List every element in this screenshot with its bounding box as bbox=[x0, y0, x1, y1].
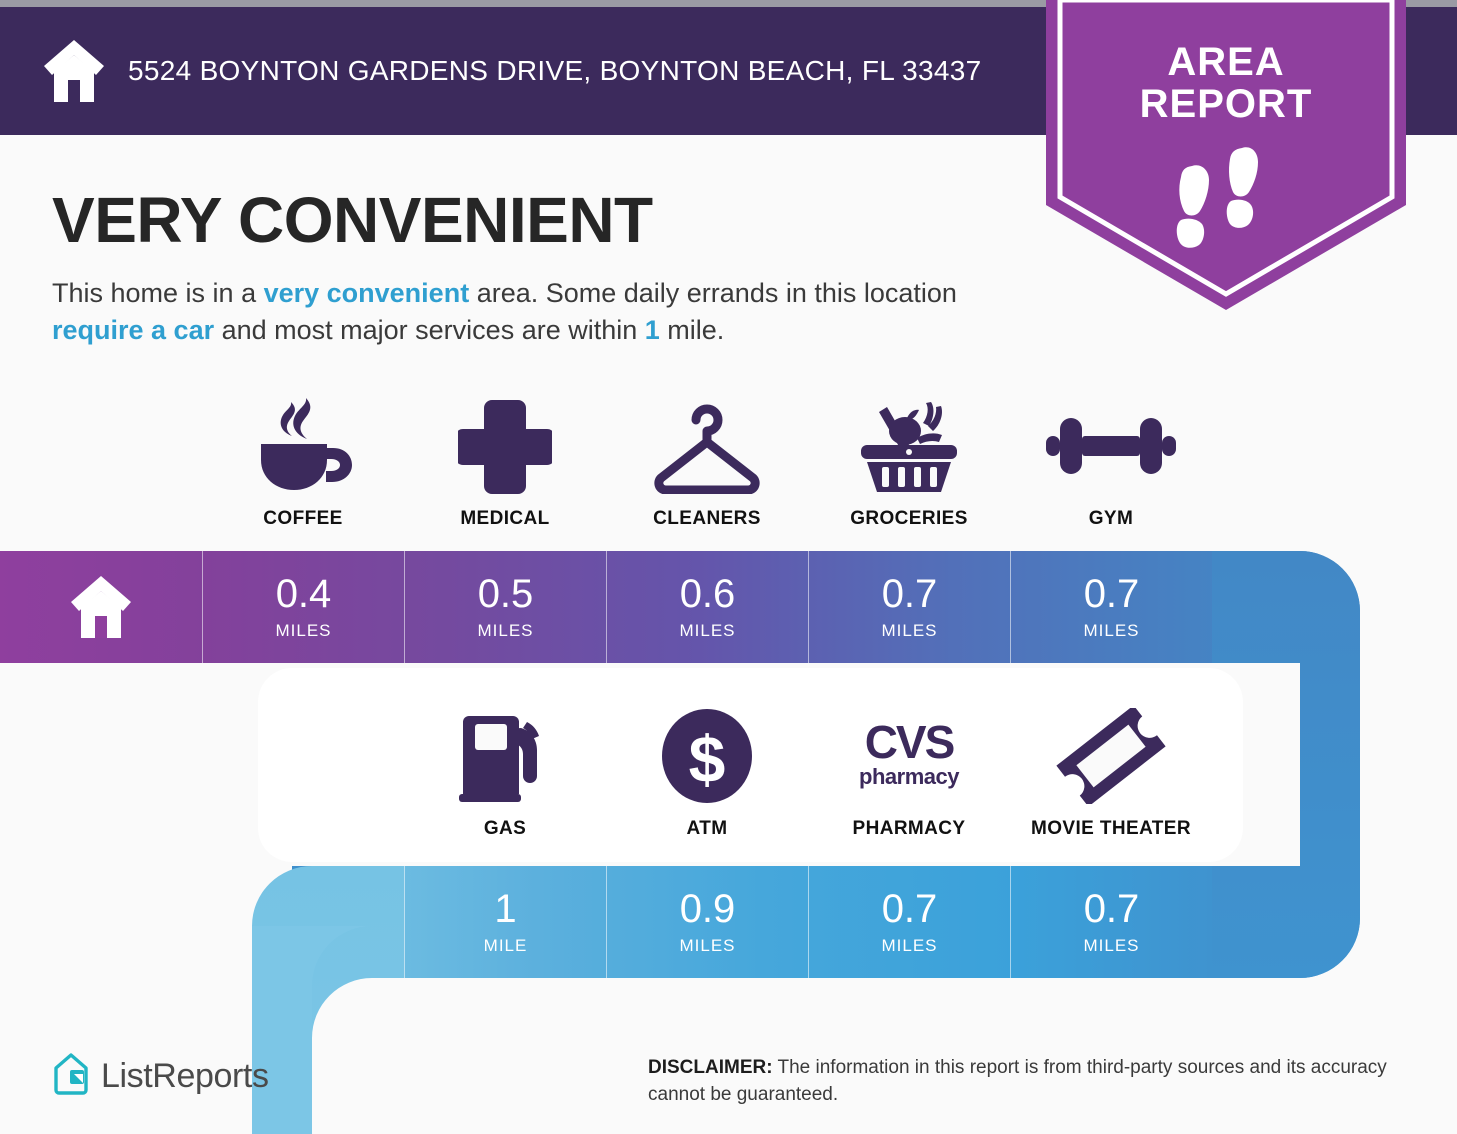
amenity-label: MEDICAL bbox=[460, 508, 549, 530]
svg-text:pharmacy: pharmacy bbox=[859, 764, 960, 789]
distance-unit: MILES bbox=[275, 621, 331, 641]
svg-text:CVS: CVS bbox=[865, 716, 954, 768]
amenity-atm[interactable]: $ ATM bbox=[606, 708, 808, 840]
distance-medical: 0.5 MILES bbox=[404, 551, 606, 663]
distance-pharmacy: 0.7 MILES bbox=[808, 866, 1010, 978]
cvs-pharmacy-icon: CVS pharmacy bbox=[845, 708, 973, 804]
distance-gas: 1 MILE bbox=[404, 866, 606, 978]
distance-unit: MILES bbox=[679, 621, 735, 641]
coffee-cup-icon bbox=[251, 398, 355, 494]
distance-value: 0.7 bbox=[1084, 889, 1140, 929]
amenity-coffee[interactable]: COFFEE bbox=[202, 398, 404, 530]
distance-movie-theater: 0.7 MILES bbox=[1010, 866, 1212, 978]
disclaimer: DISCLAIMER: The information in this repo… bbox=[648, 1055, 1408, 1109]
distance-value: 0.7 bbox=[882, 889, 938, 929]
amenity-gas[interactable]: GAS bbox=[404, 708, 606, 840]
home-marker bbox=[0, 551, 202, 663]
distance-unit: MILES bbox=[1083, 936, 1139, 956]
gas-pump-icon bbox=[455, 708, 555, 804]
distance-unit: MILES bbox=[679, 936, 735, 956]
amenity-label: PHARMACY bbox=[853, 818, 966, 840]
medical-cross-icon bbox=[458, 398, 552, 494]
disclaimer-label: DISCLAIMER: bbox=[648, 1057, 773, 1078]
distance-value: 0.9 bbox=[680, 889, 736, 929]
svg-text:$: $ bbox=[689, 722, 726, 796]
distance-coffee: 0.4 MILES bbox=[202, 551, 404, 663]
amenity-label: ATM bbox=[687, 818, 728, 840]
distance-unit: MILES bbox=[1083, 621, 1139, 641]
distance-value: 1 bbox=[494, 889, 516, 929]
distance-unit: MILES bbox=[881, 621, 937, 641]
distance-groceries: 0.7 MILES bbox=[808, 551, 1010, 663]
dollar-circle-icon: $ bbox=[659, 708, 755, 804]
amenity-gym[interactable]: GYM bbox=[1010, 398, 1212, 530]
dumbbell-icon bbox=[1046, 398, 1176, 494]
listreports-logo-text: ListReports bbox=[101, 1057, 269, 1096]
distance-value: 0.5 bbox=[478, 574, 534, 614]
amenity-pharmacy[interactable]: CVS pharmacy PHARMACY bbox=[808, 708, 1010, 840]
badge-line-1: AREA bbox=[1046, 42, 1406, 84]
amenity-groceries[interactable]: GROCERIES bbox=[808, 398, 1010, 530]
distance-values-row-1: 0.4 MILES 0.5 MILES 0.6 MILES 0.7 MILES … bbox=[202, 551, 1212, 663]
distance-unit: MILES bbox=[881, 936, 937, 956]
distance-cleaners: 0.6 MILES bbox=[606, 551, 808, 663]
badge-line-2: REPORT bbox=[1046, 84, 1406, 126]
amenity-medical[interactable]: MEDICAL bbox=[404, 398, 606, 530]
distance-value: 0.7 bbox=[882, 574, 938, 614]
amenity-label: GROCERIES bbox=[850, 508, 968, 530]
movie-ticket-icon bbox=[1056, 708, 1166, 804]
listreports-house-icon bbox=[52, 1052, 90, 1101]
distance-value: 0.7 bbox=[1084, 574, 1140, 614]
amenity-label: COFFEE bbox=[263, 508, 342, 530]
amenity-icon-row-2: GAS $ ATM CVS pharmacy PHARMACY bbox=[404, 708, 1212, 840]
distance-unit: MILES bbox=[477, 621, 533, 641]
distance-values-row-2: 1 MILE 0.9 MILES 0.7 MILES 0.7 MILES bbox=[404, 866, 1212, 978]
amenity-icon-row-1: COFFEE MEDICAL CLEANERS bbox=[202, 398, 1212, 530]
area-report-badge: AREA REPORT bbox=[1046, 0, 1406, 310]
badge-text: AREA REPORT bbox=[1046, 42, 1406, 125]
grocery-basket-icon bbox=[851, 398, 967, 494]
amenity-label: GYM bbox=[1089, 508, 1133, 530]
distance-unit: MILE bbox=[484, 936, 528, 956]
amenity-label: MOVIE THEATER bbox=[1031, 818, 1191, 840]
amenity-cleaners[interactable]: CLEANERS bbox=[606, 398, 808, 530]
clothes-hanger-icon bbox=[647, 398, 767, 494]
listreports-logo[interactable]: ListReports bbox=[52, 1052, 269, 1101]
distance-value: 0.4 bbox=[276, 574, 332, 614]
amenity-movie-theater[interactable]: MOVIE THEATER bbox=[1010, 708, 1212, 840]
distance-value: 0.6 bbox=[680, 574, 736, 614]
distance-atm: 0.9 MILES bbox=[606, 866, 808, 978]
distance-gym: 0.7 MILES bbox=[1010, 551, 1212, 663]
amenity-label: GAS bbox=[484, 818, 526, 840]
amenity-label: CLEANERS bbox=[653, 508, 761, 530]
